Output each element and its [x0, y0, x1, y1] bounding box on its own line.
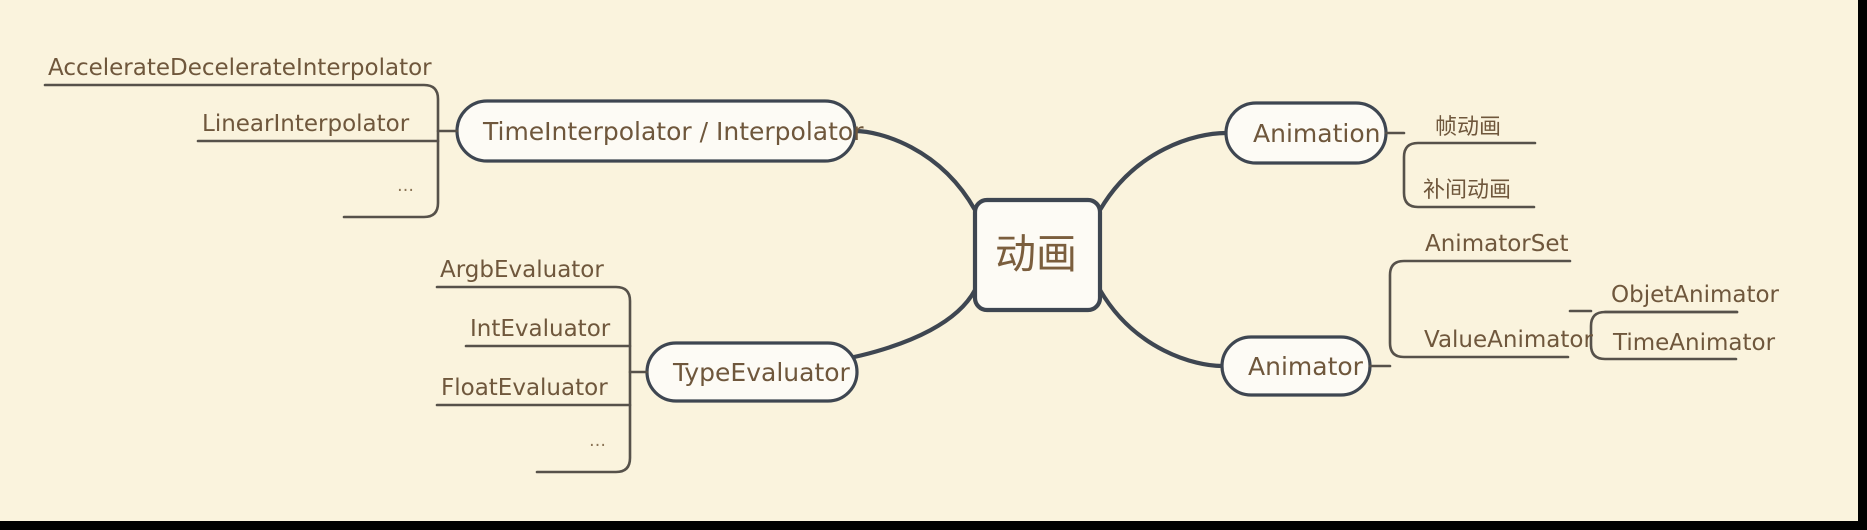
node-linear-interpolator-label[interactable]: LinearInterpolator	[202, 113, 409, 136]
node-objet-animator-label[interactable]: ObjetAnimator	[1611, 284, 1779, 307]
node-time-animator-label[interactable]: TimeAnimator	[1613, 332, 1775, 355]
node-root-label[interactable]: 动画	[995, 234, 1077, 275]
node-animator-label[interactable]: Animator	[1248, 354, 1363, 379]
mindmap-canvas: 动画 TimeInterpolator / Interpolator Accel…	[0, 0, 1867, 530]
node-accelerate-decelerate-interpolator-label[interactable]: AccelerateDecelerateInterpolator	[48, 57, 432, 80]
node-evaluator-more-label[interactable]: …	[589, 433, 607, 450]
node-type-evaluator-label[interactable]: TypeEvaluator	[673, 360, 850, 385]
edge-root-to-animator	[1100, 290, 1222, 366]
edge-root-to-animation	[1100, 133, 1226, 210]
node-value-animator-label[interactable]: ValueAnimator	[1424, 329, 1593, 352]
node-tween-animation-label[interactable]: 补间动画	[1423, 180, 1511, 202]
node-animation-label[interactable]: Animation	[1253, 121, 1380, 146]
node-int-evaluator-label[interactable]: IntEvaluator	[470, 318, 610, 341]
node-argb-evaluator-label[interactable]: ArgbEvaluator	[440, 259, 604, 282]
node-float-evaluator-label[interactable]: FloatEvaluator	[441, 377, 608, 400]
bracket-time-interpolator	[45, 85, 438, 217]
node-interpolator-more-label[interactable]: …	[397, 178, 415, 195]
node-frame-animation-label[interactable]: 帧动画	[1435, 117, 1501, 139]
node-time-interpolator-label[interactable]: TimeInterpolator / Interpolator	[483, 119, 863, 144]
edge-root-to-time-interpolator	[855, 131, 975, 210]
node-animator-set-label[interactable]: AnimatorSet	[1425, 233, 1569, 256]
